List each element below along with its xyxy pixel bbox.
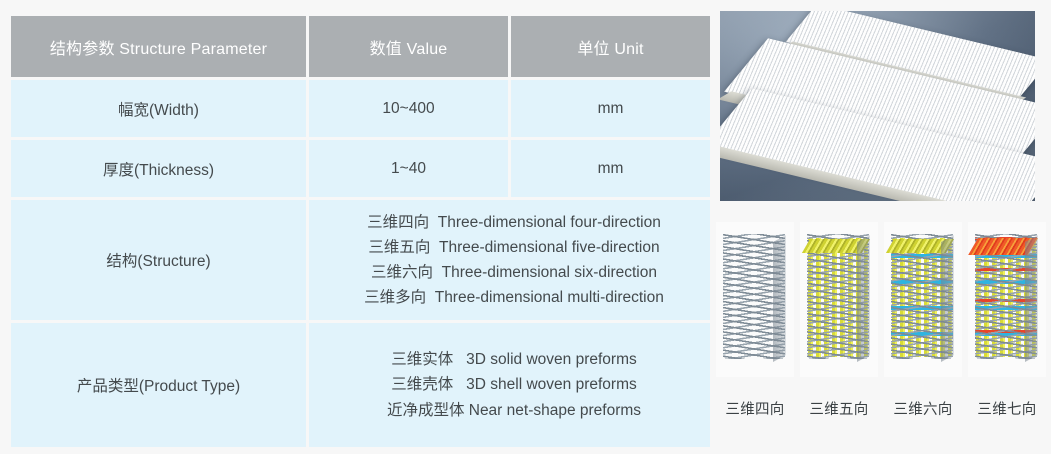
table-row-structure: 结构(Structure) 三维四向 Three-dimensional fou… bbox=[11, 200, 710, 320]
caption-seven-direction: 三维七向 bbox=[968, 398, 1046, 419]
table-header-row: 结构参数 Structure Parameter 数值 Value 单位 Uni… bbox=[11, 16, 710, 77]
table-row-product-type: 产品类型(Product Type) 三维实体 3D solid woven p… bbox=[11, 323, 710, 447]
structure-parameter-table: 结构参数 Structure Parameter 数值 Value 单位 Uni… bbox=[8, 13, 713, 450]
weave-side-face bbox=[941, 235, 954, 362]
weave-diagram-captions: 三维四向 三维五向 三维六向 三维七向 bbox=[716, 398, 1046, 419]
column-header-unit: 单位 Unit bbox=[511, 16, 710, 77]
table-row-thickness: 厚度(Thickness) 1~40 mm bbox=[11, 140, 710, 197]
weave-block bbox=[891, 234, 953, 359]
cell-value-product-type: 三维实体 3D solid woven preforms 三维壳体 3D she… bbox=[309, 323, 710, 447]
weave-diagram-five-direction bbox=[800, 222, 878, 377]
woven-preform-photo bbox=[720, 11, 1035, 201]
weave-side-face bbox=[1025, 235, 1038, 362]
cell-unit-width: mm bbox=[511, 80, 710, 137]
weave-side-face bbox=[857, 235, 870, 362]
caption-six-direction: 三维六向 bbox=[884, 398, 962, 419]
caption-five-direction: 三维五向 bbox=[800, 398, 878, 419]
weave-diagram-seven-direction bbox=[968, 222, 1046, 377]
table-body: 幅宽(Width) 10~400 mm 厚度(Thickness) 1~40 m… bbox=[11, 80, 710, 447]
page-root: 结构参数 Structure Parameter 数值 Value 单位 Uni… bbox=[0, 0, 1051, 454]
weave-diagram-four-direction bbox=[716, 222, 794, 377]
weave-block bbox=[807, 234, 869, 359]
weave-block bbox=[723, 234, 785, 359]
cell-value-thickness: 1~40 bbox=[309, 140, 508, 197]
cell-parameter-thickness: 厚度(Thickness) bbox=[11, 140, 306, 197]
caption-four-direction: 三维四向 bbox=[716, 398, 794, 419]
cell-value-structure: 三维四向 Three-dimensional four-direction 三维… bbox=[309, 200, 710, 320]
table-header: 结构参数 Structure Parameter 数值 Value 单位 Uni… bbox=[11, 16, 710, 77]
weave-diagram-six-direction bbox=[884, 222, 962, 377]
column-header-value: 数值 Value bbox=[309, 16, 508, 77]
table-row-width: 幅宽(Width) 10~400 mm bbox=[11, 80, 710, 137]
cell-parameter-width: 幅宽(Width) bbox=[11, 80, 306, 137]
weave-side-face bbox=[773, 235, 786, 362]
cell-parameter-structure: 结构(Structure) bbox=[11, 200, 306, 320]
cell-parameter-product-type: 产品类型(Product Type) bbox=[11, 323, 306, 447]
weave-block bbox=[975, 234, 1037, 359]
cell-value-width: 10~400 bbox=[309, 80, 508, 137]
cell-unit-thickness: mm bbox=[511, 140, 710, 197]
column-header-parameter: 结构参数 Structure Parameter bbox=[11, 16, 306, 77]
weave-structure-diagrams bbox=[716, 222, 1046, 382]
